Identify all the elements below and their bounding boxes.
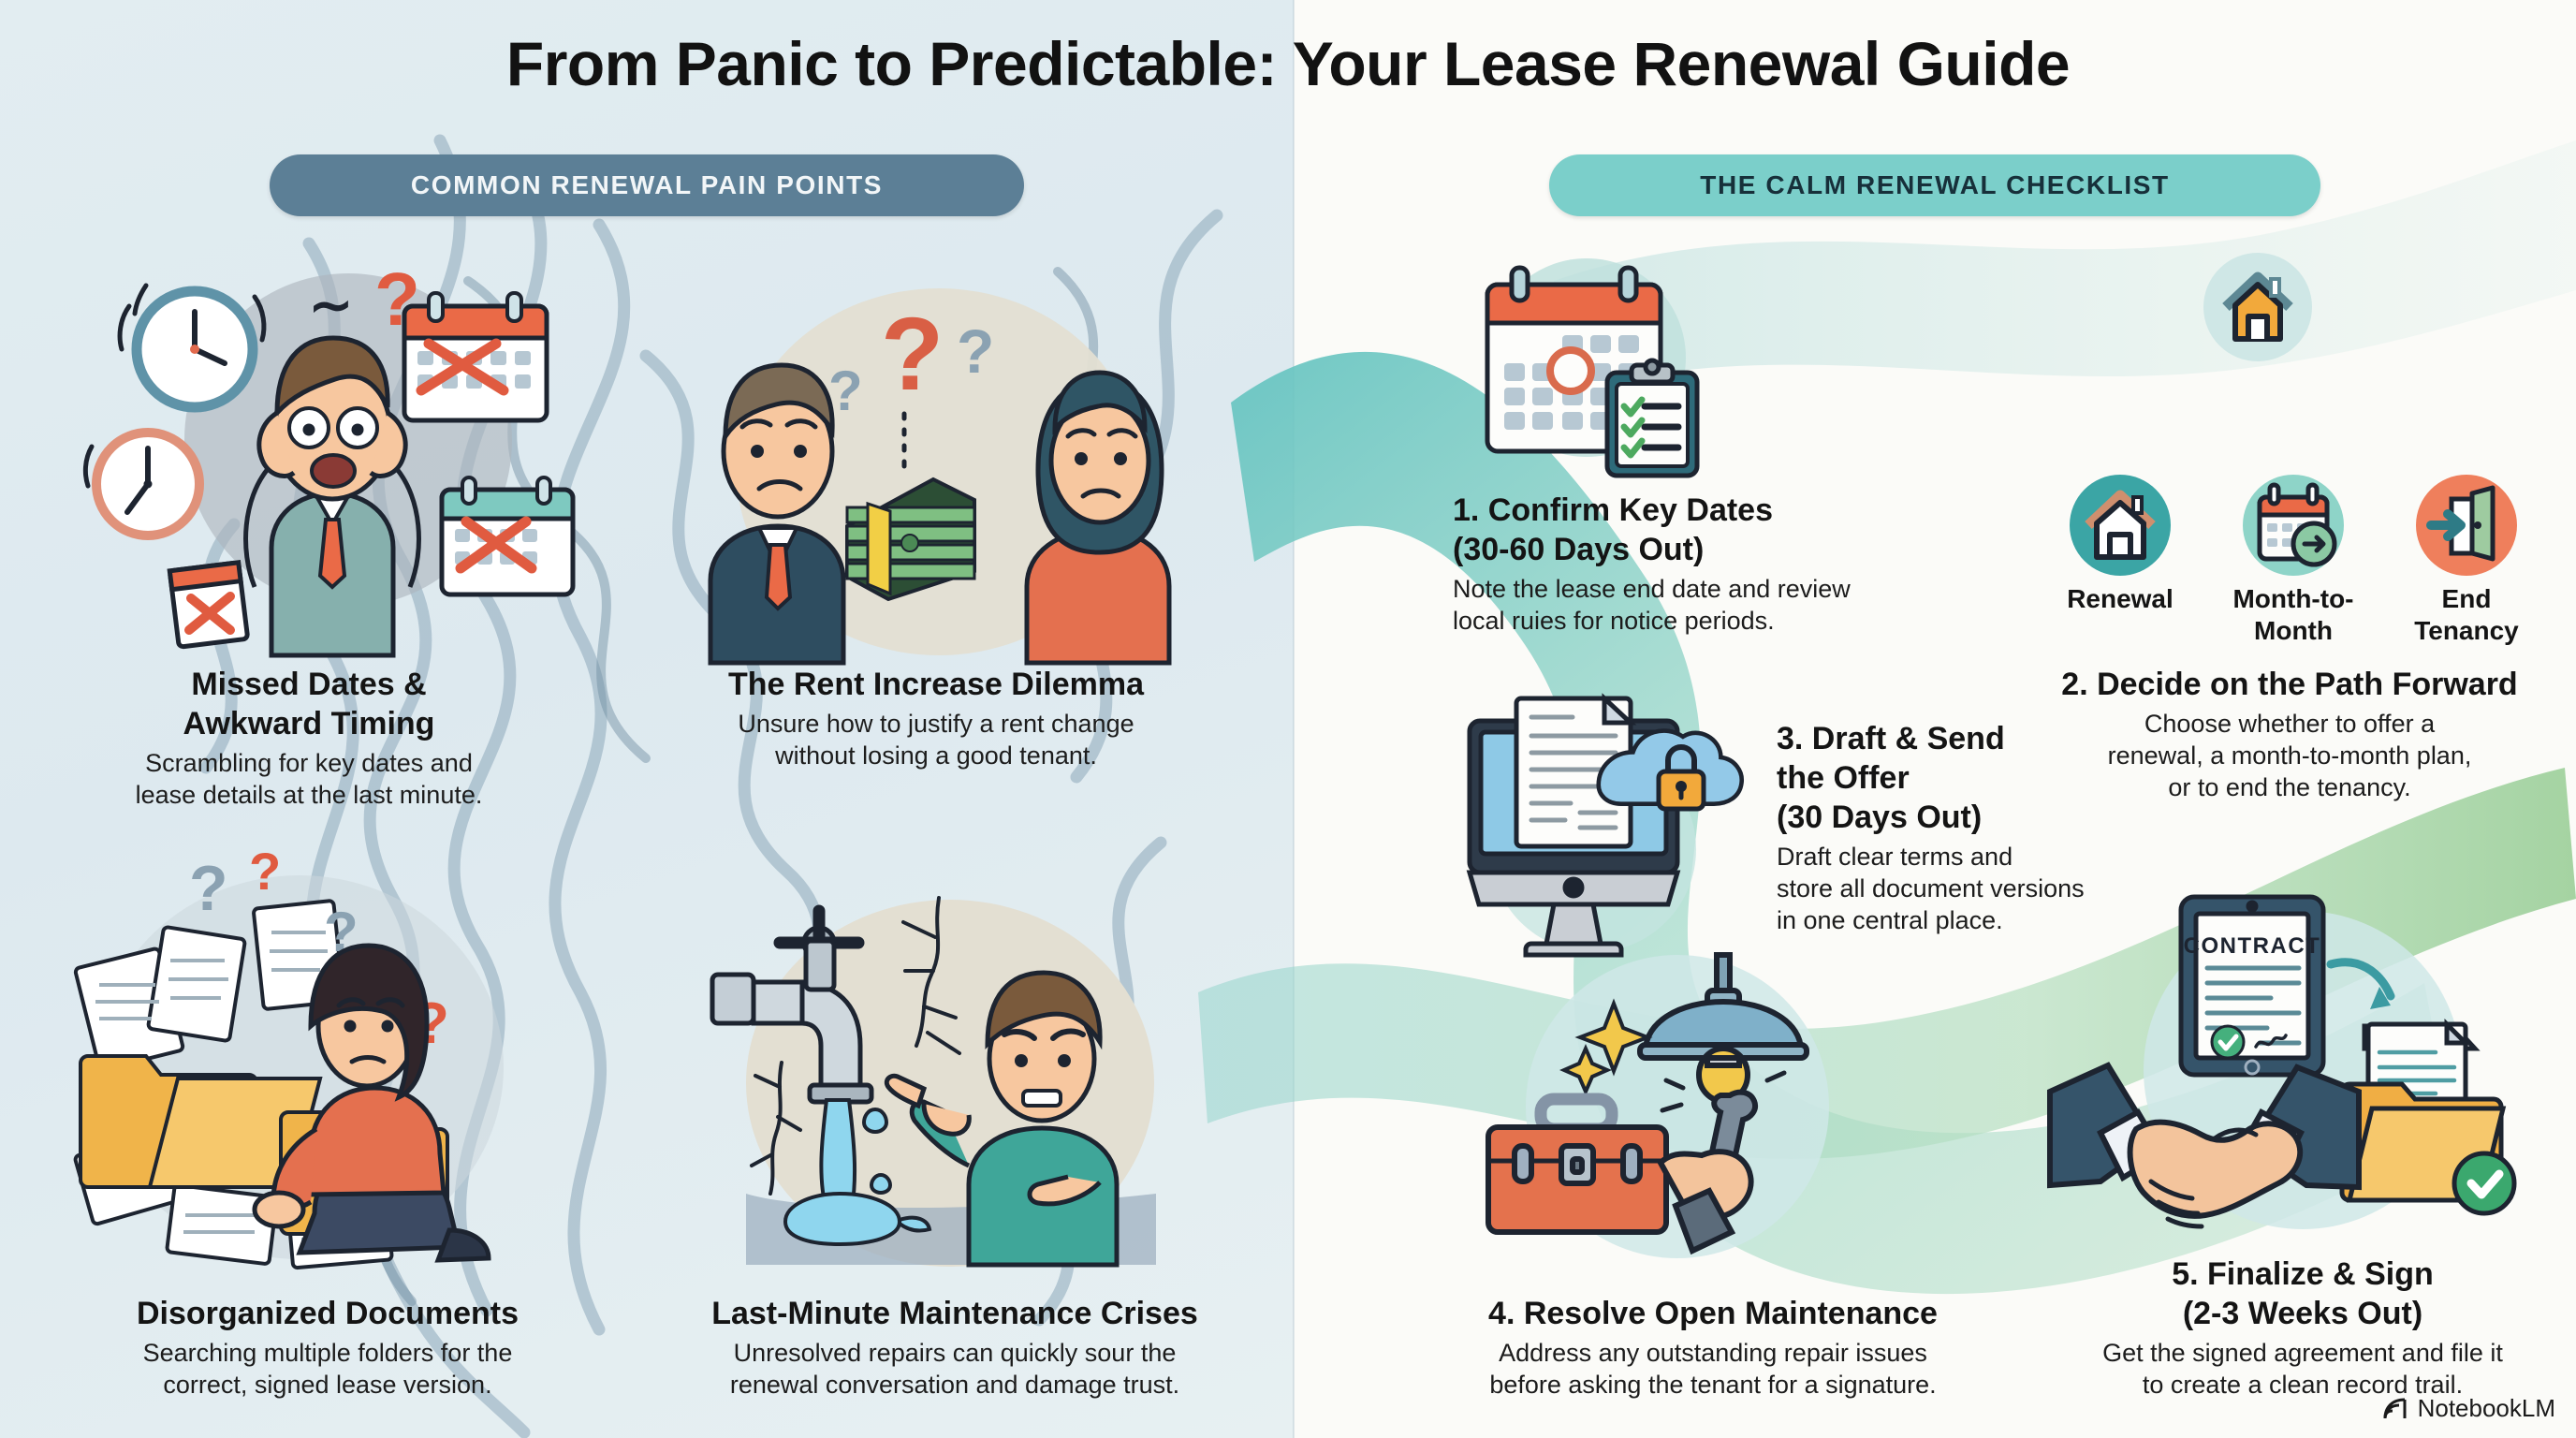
svg-text:?: ? <box>881 297 944 412</box>
contract-label: CONTRACT <box>2184 933 2321 959</box>
icon-house-top-badge <box>2202 251 2314 363</box>
pain-body: Scrambling for key dates and lease detai… <box>37 747 580 811</box>
step-heading: 4. Resolve Open Maintenance <box>1404 1294 2022 1333</box>
svg-text:∼: ∼ <box>309 275 353 334</box>
pain-body: Unresolved repairs can quickly sour the … <box>646 1337 1264 1401</box>
step-body: Draft clear terms and store all document… <box>1777 841 2170 936</box>
pain-point-disorganized-documents: Disorganized Documents Searching multipl… <box>37 1294 618 1401</box>
badge-calm-checklist: THE CALM RENEWAL CHECKLIST <box>1549 154 2320 216</box>
pain-heading: Disorganized Documents <box>37 1294 618 1333</box>
icon-toolbox-lamp-wrench <box>1462 938 1911 1271</box>
pain-point-maintenance-crises: Last-Minute Maintenance Crises Unresolve… <box>646 1294 1264 1401</box>
step-body: Get the signed agreement and file it to … <box>2050 1337 2555 1401</box>
checklist-step-1: 1. Confirm Key Dates (30-60 Days Out) No… <box>1453 491 1921 637</box>
path-option-label: End Tenancy <box>2396 583 2537 647</box>
path-option-renewal: Renewal <box>2050 473 2190 651</box>
infographic-poster: From Panic to Predictable: Your Lease Re… <box>0 0 2576 1438</box>
checklist-step-4: 4. Resolve Open Maintenance Address any … <box>1404 1294 2022 1401</box>
pain-point-missed-dates: Missed Dates & Awkward Timing Scrambling… <box>37 665 580 811</box>
svg-text:?: ? <box>957 316 994 386</box>
step-heading: 2. Decide on the Path Forward <box>2003 665 2576 704</box>
path-option-label: Month-to- Month <box>2218 583 2368 647</box>
step-heading: 5. Finalize & Sign (2-3 Weeks Out) <box>2050 1255 2555 1333</box>
watermark-label: NotebookLM <box>2418 1394 2555 1423</box>
step-body: Address any outstanding repair issues be… <box>1404 1337 2022 1401</box>
step-body: Note the lease end date and review local… <box>1453 573 1921 637</box>
pain-heading: Missed Dates & Awkward Timing <box>37 665 580 743</box>
page-title: From Panic to Predictable: Your Lease Re… <box>0 28 2576 99</box>
checklist-step-3: 3. Draft & Send the Offer (30 Days Out) … <box>1777 719 2170 936</box>
watermark: NotebookLM <box>2381 1394 2555 1423</box>
notebooklm-logo-icon <box>2381 1397 2409 1421</box>
step-heading: 3. Draft & Send the Offer (30 Days Out) <box>1777 719 2170 837</box>
svg-text:?: ? <box>374 257 420 341</box>
scene-landlord-tenant-cash-questions: ? ? ? <box>697 271 1175 665</box>
path-option-end-tenancy: End Tenancy <box>2396 473 2537 651</box>
house-icon <box>2068 473 2173 578</box>
pain-body: Unsure how to justify a rent change with… <box>674 708 1198 771</box>
scene-leaking-faucet-cracked-wall-tenant <box>688 885 1203 1269</box>
pain-heading: Last-Minute Maintenance Crises <box>646 1294 1264 1333</box>
path-options-row: Renewal <box>2050 473 2537 651</box>
path-option-month-to-month: Month-to- Month <box>2218 473 2368 651</box>
svg-text:?: ? <box>189 853 228 924</box>
exit-door-icon <box>2414 473 2519 578</box>
pain-body: Searching multiple folders for the corre… <box>37 1337 618 1401</box>
svg-text:?: ? <box>249 842 281 901</box>
icon-handshake-tablet-contract-folder: CONTRACT <box>2050 888 2555 1253</box>
scene-woman-scattered-folders-papers: ? ? ? ? <box>66 843 590 1273</box>
pain-point-rent-increase: The Rent Increase Dilemma Unsure how to … <box>674 665 1198 771</box>
path-option-label: Renewal <box>2050 583 2190 615</box>
pain-heading: The Rent Increase Dilemma <box>674 665 1198 704</box>
badge-pain-points: COMMON RENEWAL PAIN POINTS <box>270 154 1024 216</box>
calendar-arrow-icon <box>2241 473 2346 578</box>
icon-calendar-clipboard <box>1446 245 1755 491</box>
checklist-step-5: 5. Finalize & Sign (2-3 Weeks Out) Get t… <box>2050 1255 2555 1401</box>
step-heading: 1. Confirm Key Dates (30-60 Days Out) <box>1453 491 1921 569</box>
scene-panicked-man-clocks-calendars: ? ∼ <box>84 239 590 660</box>
